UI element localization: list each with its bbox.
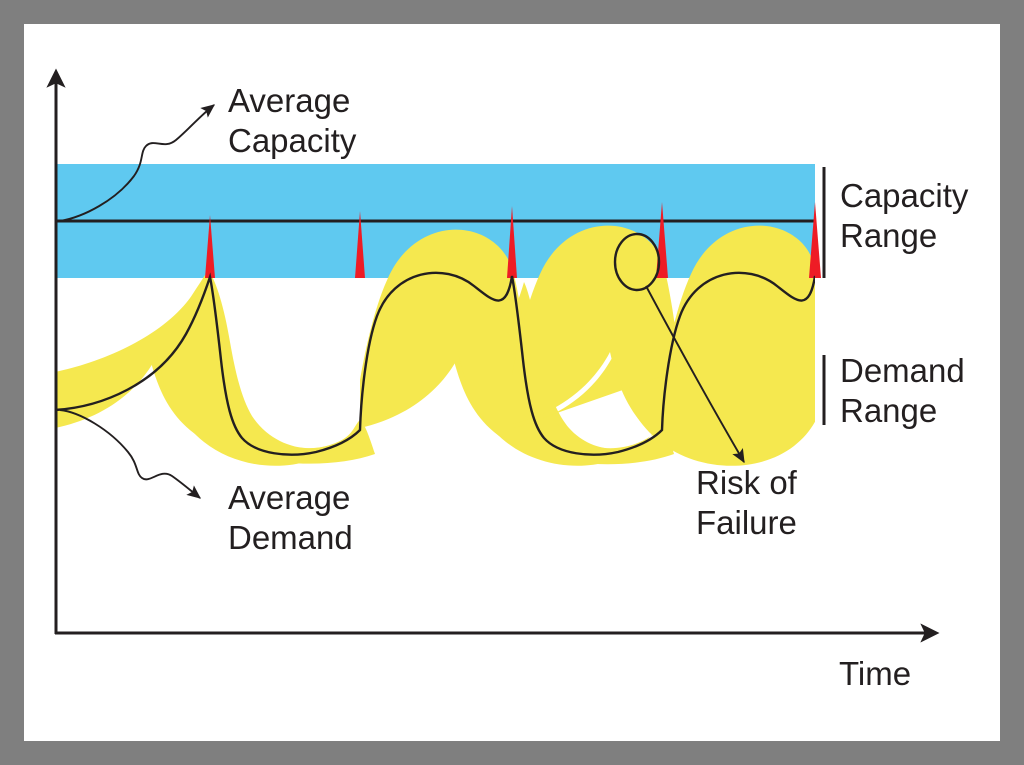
capacity-demand-diagram: Average Capacity Average Demand Risk of … <box>24 24 1000 741</box>
average-capacity-label-line2: Capacity <box>228 122 357 159</box>
capacity-range-label-line2: Range <box>840 217 937 254</box>
capacity-range-legend: Capacity Range <box>824 167 969 278</box>
x-axis-label: Time <box>839 655 911 692</box>
average-demand-label-line2: Demand <box>228 519 353 556</box>
demand-tooth <box>55 267 360 466</box>
demand-range-label-line2: Range <box>840 392 937 429</box>
figure-border: Average Capacity Average Demand Risk of … <box>0 0 1024 765</box>
average-capacity-label-line1: Average <box>228 82 350 119</box>
risk-of-failure-label-line2: Failure <box>696 504 797 541</box>
average-demand-leader-line <box>60 410 200 498</box>
risk-of-failure-label-line1: Risk of <box>696 464 798 501</box>
figure-canvas: Average Capacity Average Demand Risk of … <box>24 24 1000 741</box>
demand-range-label-line1: Demand <box>840 352 965 389</box>
average-demand-label-line1: Average <box>228 479 350 516</box>
capacity-range-label-line1: Capacity <box>840 177 969 214</box>
demand-range-legend: Demand Range <box>824 352 965 429</box>
